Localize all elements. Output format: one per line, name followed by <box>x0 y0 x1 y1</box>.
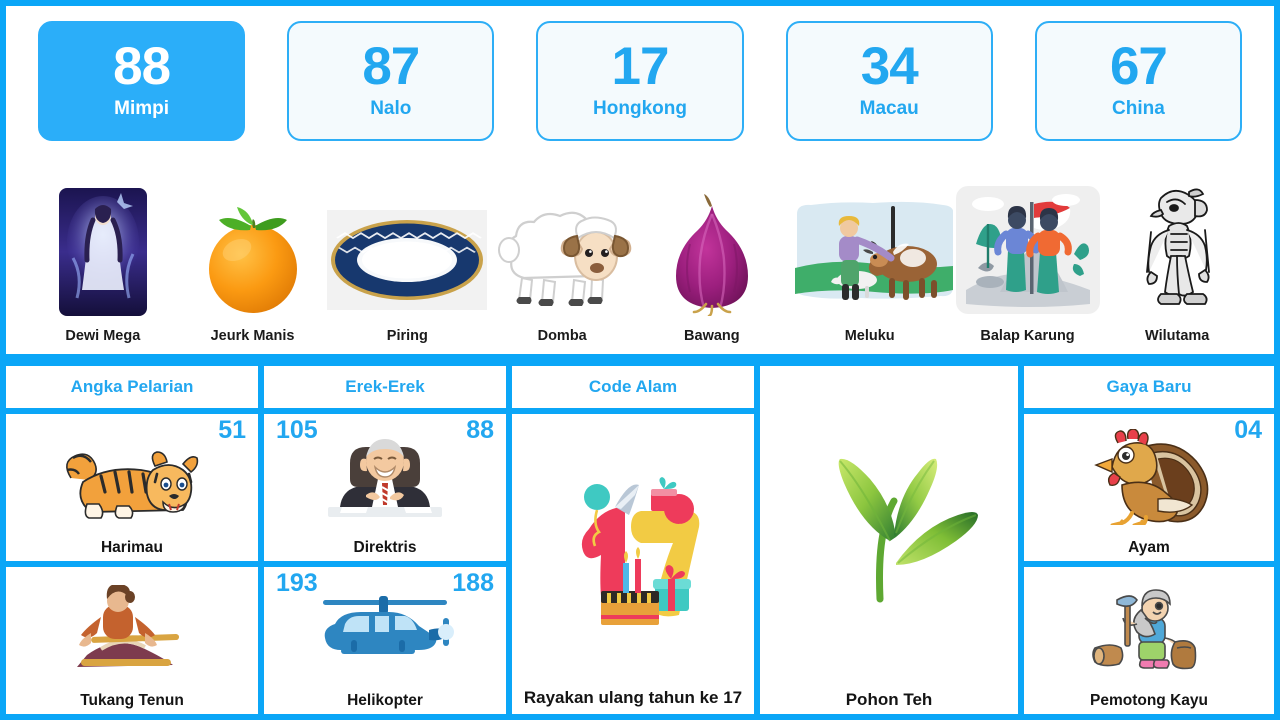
card-caption: Pohon Teh <box>846 689 933 710</box>
icon-cell-domba[interactable]: Domba <box>487 156 637 344</box>
wayang-icon <box>1102 184 1252 316</box>
card-caption: Direktris <box>354 538 417 557</box>
number-label: Nalo <box>370 98 411 120</box>
plowing-cow-icon <box>787 184 953 316</box>
onion-icon <box>637 184 787 316</box>
birthday-17-icon <box>518 418 748 685</box>
section-title: Gaya Baru <box>1024 366 1274 408</box>
section-title: Code Alam <box>512 366 754 408</box>
number-value: 88 <box>113 42 170 92</box>
icon-cell-jeurk-manis[interactable]: Jeurk Manis <box>178 156 328 344</box>
icon-label: Balap Karung <box>980 328 1074 344</box>
card-caption: Helikopter <box>347 691 423 710</box>
icon-cell-meluku[interactable]: Meluku <box>787 156 953 344</box>
card-pemotong-kayu[interactable]: Pemotong Kayu <box>1024 567 1274 714</box>
number-label: Mimpi <box>114 98 169 120</box>
icon-label: Jeurk Manis <box>211 328 295 344</box>
card-caption: Rayakan ulang tahun ke 17 <box>524 687 742 710</box>
icon-label: Wilutama <box>1145 328 1209 344</box>
icon-cell-wilutama[interactable]: Wilutama <box>1102 156 1252 344</box>
number-label: China <box>1112 98 1165 120</box>
card-harimau[interactable]: 51 <box>6 414 258 561</box>
number-value: 67 <box>1110 42 1167 92</box>
card-tukang-tenun[interactable]: Tukang Tenun <box>6 567 258 714</box>
icon-label: Domba <box>538 328 587 344</box>
number-label: Hongkong <box>593 98 687 120</box>
badge-number-left: 105 <box>276 418 318 443</box>
section-gaya-baru: Gaya Baru 04 <box>1024 366 1274 714</box>
sack-race-icon <box>953 184 1103 316</box>
section-code-alam: Code Alam <box>512 366 754 714</box>
badge-number-left: 193 <box>276 571 318 596</box>
number-card-macau[interactable]: 34 Macau <box>786 21 993 141</box>
icon-label: Piring <box>387 328 428 344</box>
badge-number-right: 88 <box>466 418 494 443</box>
badge-number-right: 188 <box>452 571 494 596</box>
icon-strip: Dewi Mega Jeurk M <box>6 156 1274 354</box>
goddess-icon <box>28 184 178 316</box>
card-rayakan-ulang-tahun[interactable]: Rayakan ulang tahun ke 17 <box>512 414 754 714</box>
weaver-icon <box>12 571 252 689</box>
tea-leaves-icon <box>766 370 1012 687</box>
card-caption: Harimau <box>101 538 163 557</box>
rooster-icon <box>1030 418 1268 536</box>
badge-number: 04 <box>1234 418 1262 443</box>
card-ayam[interactable]: 04 <box>1024 414 1274 561</box>
card-direktris[interactable]: 105 88 <box>264 414 506 561</box>
card-helikopter[interactable]: 193 188 <box>264 567 506 714</box>
number-value: 34 <box>861 42 918 92</box>
icon-label: Dewi Mega <box>65 328 140 344</box>
section-angka-pelarian: Angka Pelarian 51 <box>6 366 258 714</box>
tiger-icon <box>12 418 252 536</box>
icon-cell-piring[interactable]: Piring <box>327 156 487 344</box>
badge-number: 51 <box>218 418 246 443</box>
icon-cell-balap-karung[interactable]: Balap Karung <box>953 156 1103 344</box>
icon-cell-bawang[interactable]: Bawang <box>637 156 787 344</box>
woodcutter-icon <box>1030 571 1268 689</box>
card-caption: Tukang Tenun <box>80 691 184 710</box>
card-caption: Ayam <box>1128 538 1170 557</box>
icon-label: Meluku <box>845 328 895 344</box>
number-card-hongkong[interactable]: 17 Hongkong <box>536 21 743 141</box>
icon-cell-dewi-mega[interactable]: Dewi Mega <box>28 156 178 344</box>
orange-fruit-icon <box>178 184 328 316</box>
number-card-nalo[interactable]: 87 Nalo <box>287 21 494 141</box>
number-card-mimpi[interactable]: 88 Mimpi <box>38 21 245 141</box>
section-title: Angka Pelarian <box>6 366 258 408</box>
prediction-panel: Angka Pelarian 51 <box>6 354 1274 714</box>
section-erek-erek: Erek-Erek 105 88 <box>264 366 506 714</box>
section-title: Erek-Erek <box>264 366 506 408</box>
plate-icon <box>327 184 487 316</box>
section-pohon-teh: Pohon Teh <box>760 366 1018 714</box>
number-value: 17 <box>612 42 669 92</box>
sheep-icon <box>487 184 637 316</box>
prediction-board: 88 Mimpi 87 Nalo 17 Hongkong 34 Macau 67… <box>0 0 1280 720</box>
number-label: Macau <box>860 98 919 120</box>
card-pohon-teh[interactable]: Pohon Teh <box>760 366 1018 714</box>
card-caption: Pemotong Kayu <box>1090 691 1208 710</box>
number-card-china[interactable]: 67 China <box>1035 21 1242 141</box>
number-value: 87 <box>362 42 419 92</box>
number-card-strip: 88 Mimpi 87 Nalo 17 Hongkong 34 Macau 67… <box>6 6 1274 156</box>
icon-label: Bawang <box>684 328 740 344</box>
